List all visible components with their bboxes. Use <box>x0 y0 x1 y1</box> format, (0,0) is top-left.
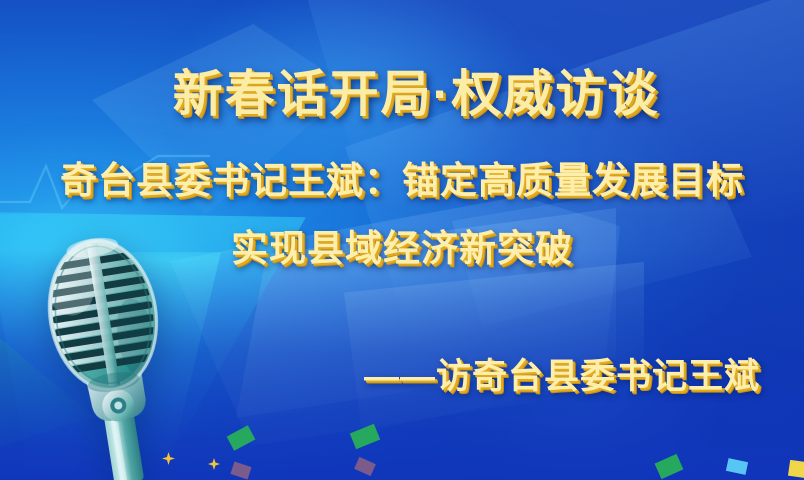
news-banner: 新春话开局·权威访谈 奇台县委书记王斌：锚定高质量发展目标 实现县域经济新突破 … <box>0 0 804 480</box>
text-layer: 新春话开局·权威访谈 奇台县委书记王斌：锚定高质量发展目标 实现县域经济新突破 … <box>0 0 804 480</box>
subtitle-line-2: 实现县域经济新突破 <box>0 218 804 272</box>
subtitle-line-1: 奇台县委书记王斌：锚定高质量发展目标 <box>0 150 804 204</box>
confetti-quad-yellow-1 <box>788 460 804 478</box>
page-title: 新春话开局·权威访谈 <box>0 54 804 126</box>
attribution-text: ——访奇台县委书记王斌 <box>364 348 760 399</box>
